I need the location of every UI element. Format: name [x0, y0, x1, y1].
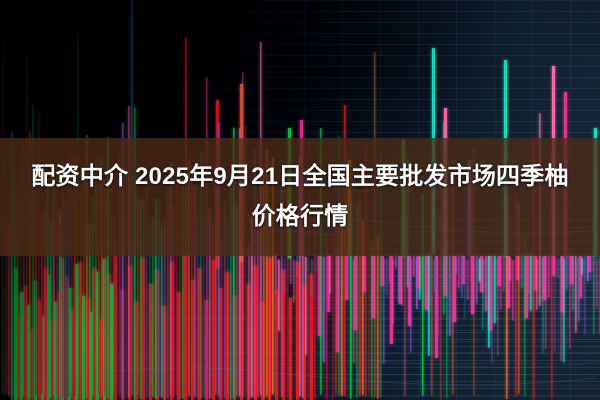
headline-overlay-band: 配资中介 2025年9月21日全国主要批发市场四季柚价格行情	[0, 138, 600, 256]
page-title: 配资中介 2025年9月21日全国主要批发市场四季柚价格行情	[20, 157, 580, 237]
banner-image: 配资中介 2025年9月21日全国主要批发市场四季柚价格行情	[0, 0, 600, 400]
